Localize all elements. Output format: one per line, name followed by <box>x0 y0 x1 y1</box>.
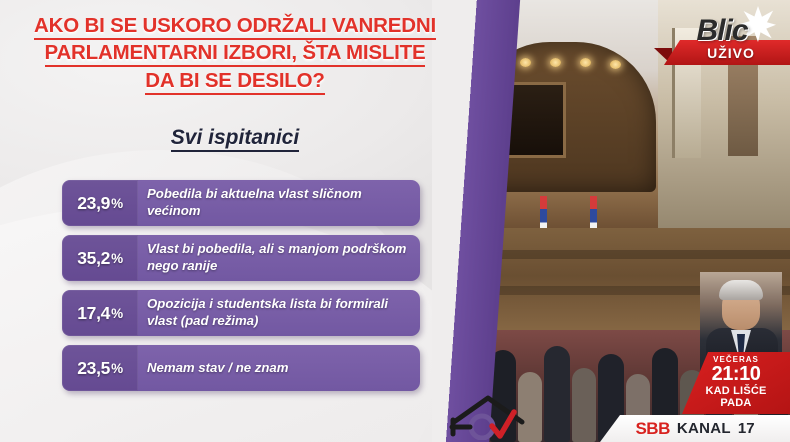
broadcast-screen: AKO BI SE USKORO ODRŽALI VANREDNI PARLAM… <box>0 0 790 442</box>
house-magnifier-check-logo <box>448 392 532 440</box>
channel-word: KANAL <box>677 420 731 437</box>
channel-bar: SBB KANAL 17 <box>600 415 790 442</box>
poll-percent-value: 35,2 <box>77 248 110 269</box>
poll-percent: 23,5% <box>62 345 138 391</box>
poll-row: 23,5% Nemam stav / ne znam <box>62 345 420 391</box>
poll-row: 17,4% Opozicija i studentska lista bi fo… <box>62 290 420 336</box>
poll-percent-unit: % <box>111 361 123 376</box>
poll-results-list: 23,9% Pobedila bi aktuelna vlast sličnom… <box>0 180 478 400</box>
poll-percent-value: 23,5 <box>77 358 110 379</box>
poll-row: 35,2% Vlast bi pobedila, ali s manjom po… <box>62 235 420 281</box>
poll-label: Vlast bi pobedila, ali s manjom podrškom… <box>138 235 420 281</box>
tonight-show-line-2: PADA <box>682 397 790 409</box>
poll-label: Opozicija i studentska lista bi formiral… <box>138 290 420 336</box>
blic-logo-text: Blic <box>662 14 782 48</box>
poll-percent-value: 17,4 <box>77 303 110 324</box>
poll-subtitle-text: Svi ispitanici <box>171 126 299 152</box>
poll-percent-value: 23,9 <box>77 193 110 214</box>
poll-percent-unit: % <box>111 196 123 211</box>
poll-label: Nemam stav / ne znam <box>138 345 420 391</box>
presenter-hair <box>719 280 763 300</box>
tonight-show-line-1: KAD LIŠĆE <box>682 385 790 397</box>
headline-line-1: AKO BI SE USKORO ODRŽALI VANREDNI <box>10 12 460 39</box>
headline: AKO BI SE USKORO ODRŽALI VANREDNI PARLAM… <box>10 12 460 94</box>
poll-percent: 23,9% <box>62 180 138 226</box>
poll-subtitle: Svi ispitanici <box>0 126 470 150</box>
poll-row: 23,9% Pobedila bi aktuelna vlast sličnom… <box>62 180 420 226</box>
blic-logo-block: Blic <box>662 14 782 80</box>
poll-percent-unit: % <box>111 251 123 266</box>
headline-line-2: PARLAMENTARNI IZBORI, ŠTA MISLITE <box>10 39 460 66</box>
provider-label: SBB <box>635 419 669 439</box>
poll-percent: 35,2% <box>62 235 138 281</box>
headline-line-3: DA BI SE DESILO? <box>10 67 460 94</box>
channel-number: 17 <box>738 420 755 437</box>
poll-label: Pobedila bi aktuelna vlast sličnom većin… <box>138 180 420 226</box>
poll-percent-unit: % <box>111 306 123 321</box>
poll-percent: 17,4% <box>62 290 138 336</box>
